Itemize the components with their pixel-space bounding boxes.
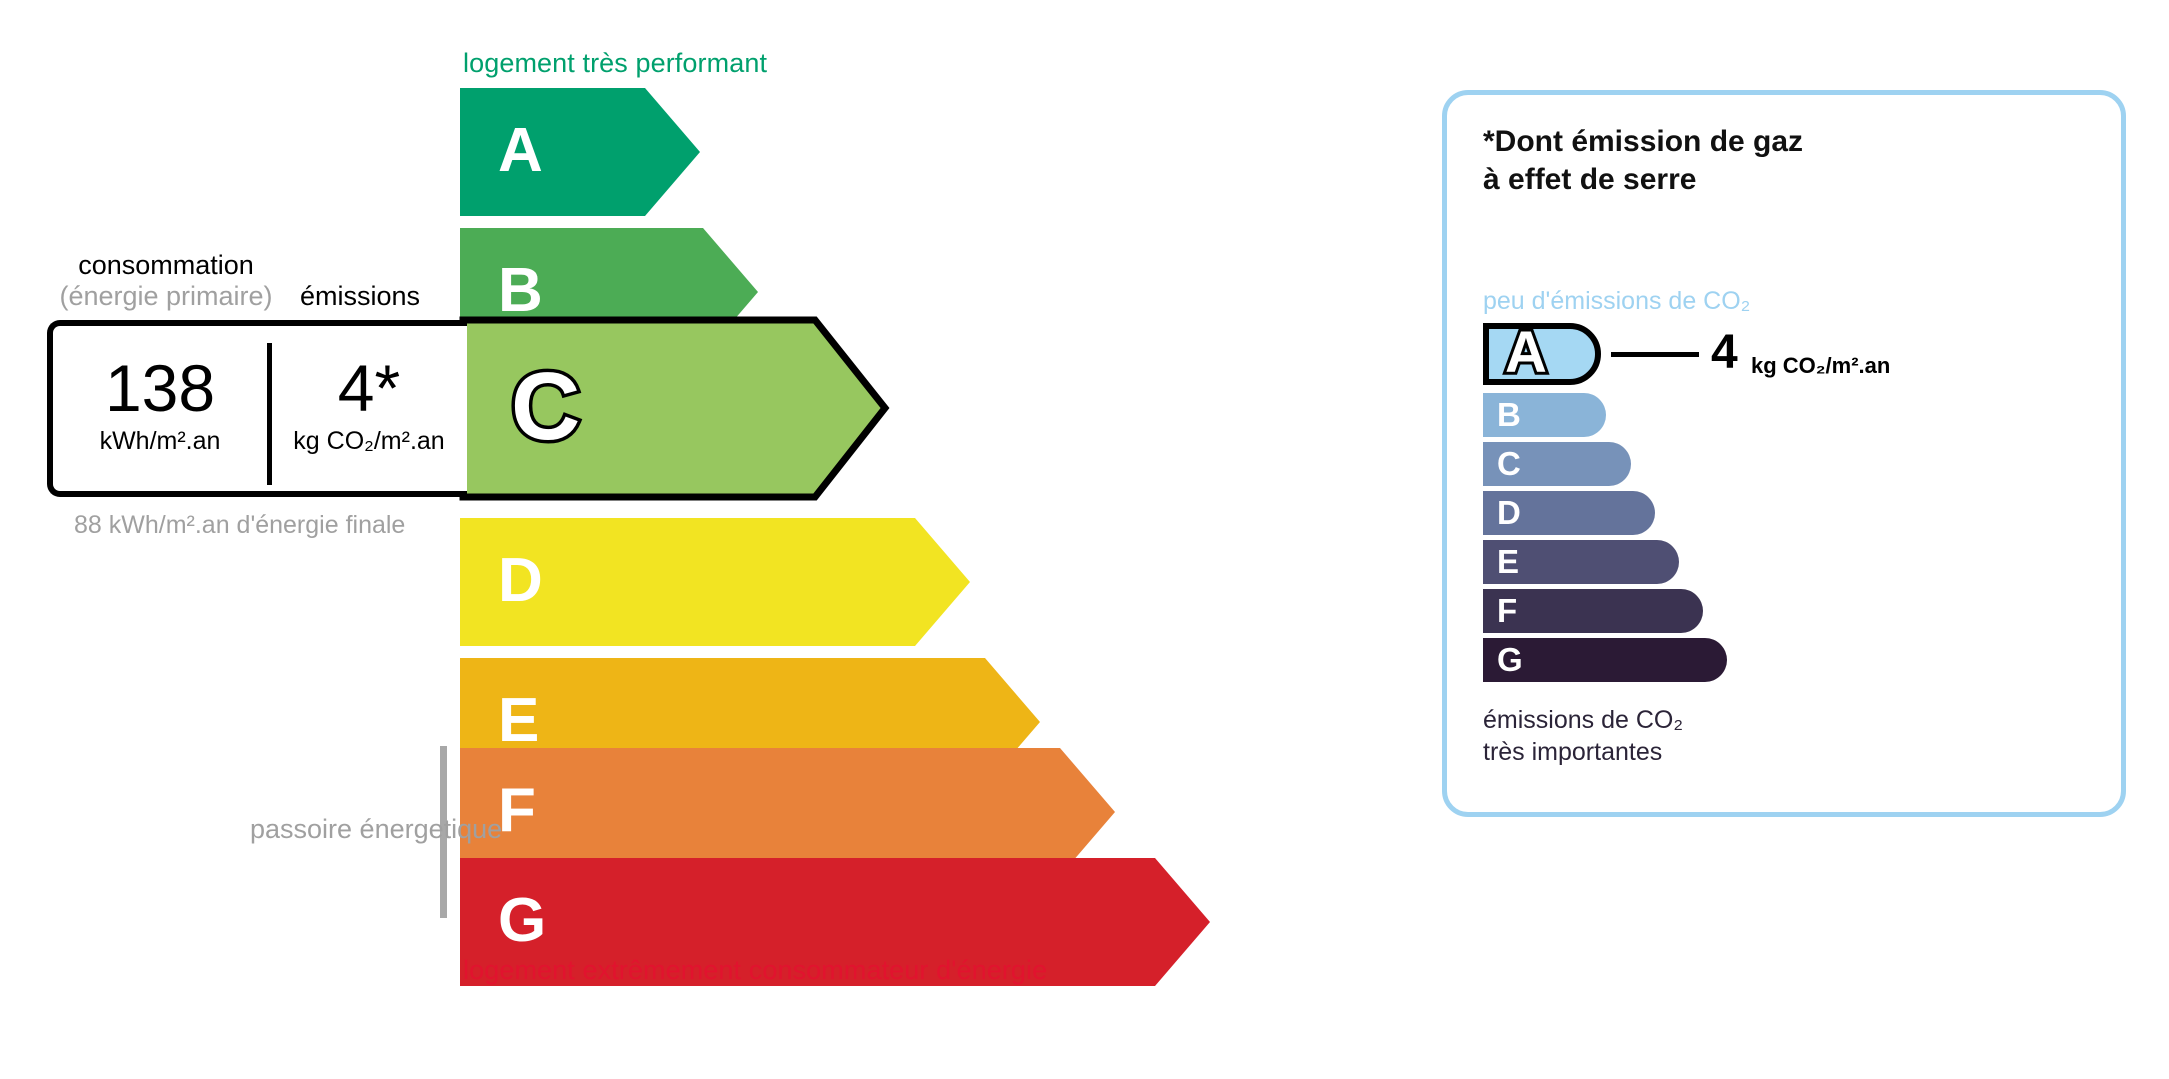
band-f: F — [460, 748, 1115, 876]
band-c-current: C — [463, 320, 885, 497]
header-emissions: émissions — [300, 281, 420, 312]
band-letter-e: E — [498, 690, 539, 752]
header-consommation: consommation — [47, 250, 285, 281]
co2-top-label: peu d'émissions de CO₂ — [1483, 287, 1750, 316]
co2-bar-e: E — [1483, 540, 1679, 584]
band-d: D — [460, 518, 970, 646]
co2-letter-c: C — [1497, 447, 1521, 480]
emissions-value-cell: 4* kg CO₂/m².an — [271, 326, 467, 491]
co2-bar-a-current: A — [1483, 323, 1601, 385]
consumption-unit: kWh/m².an — [100, 427, 221, 456]
co2-value: 4 — [1711, 329, 1738, 377]
scale-bottom-label: logement extrêmement consommateur d'éner… — [463, 955, 1047, 986]
co2-value-unit: kg CO₂/m².an — [1751, 355, 1890, 377]
band-letter-c: C — [511, 359, 580, 455]
emissions-unit: kg CO₂/m².an — [293, 427, 444, 456]
co2-bar-b: B — [1483, 393, 1606, 437]
dpe-diagram: logement très performant A B C D E F G l… — [0, 0, 2169, 1079]
consumption-value-cell: 138 kWh/m².an — [53, 326, 267, 491]
band-letter-b: B — [498, 260, 543, 322]
band-letter-a: A — [498, 120, 543, 182]
co2-panel: *Dont émission de gaz à effet de serre p… — [1442, 90, 2126, 817]
co2-letter-f: F — [1497, 594, 1517, 627]
band-a: A — [460, 88, 700, 216]
co2-bar-d: D — [1483, 491, 1655, 535]
co2-leader-line — [1611, 352, 1699, 357]
co2-bar-g: G — [1483, 638, 1727, 682]
co2-letter-d: D — [1497, 496, 1521, 529]
co2-letter-e: E — [1497, 545, 1519, 578]
co2-panel-title: *Dont émission de gaz à effet de serre — [1483, 123, 1803, 199]
band-letter-f: F — [498, 780, 536, 842]
co2-bottom-label: émissions de CO₂ très importantes — [1483, 705, 1683, 768]
co2-bar-c: C — [1483, 442, 1631, 486]
co2-bar-f: F — [1483, 589, 1703, 633]
band-letter-g: G — [498, 890, 546, 952]
emissions-value: 4* — [338, 357, 400, 420]
value-box: 138 kWh/m².an 4* kg CO₂/m².an — [47, 320, 467, 497]
consumption-value: 138 — [105, 357, 215, 420]
co2-letter-b: B — [1497, 398, 1521, 431]
band-letter-d: D — [498, 550, 543, 612]
co2-letter-g: G — [1497, 643, 1523, 676]
final-energy-note: 88 kWh/m².an d'énergie finale — [74, 509, 405, 541]
passoire-label: passoire énergetique — [250, 812, 422, 847]
co2-letter-a: A — [1505, 324, 1547, 382]
header-energie-primaire: (énergie primaire) — [34, 281, 298, 312]
